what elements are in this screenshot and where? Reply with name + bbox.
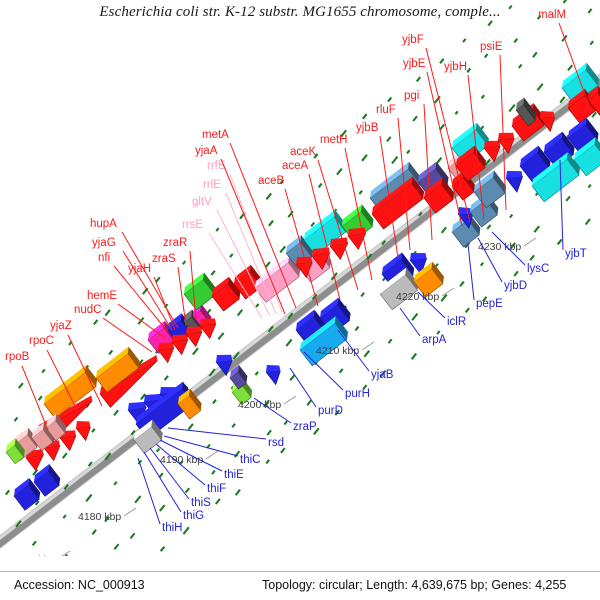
marker-tick xyxy=(466,308,469,312)
marker-tick xyxy=(183,261,186,264)
marker-tick xyxy=(437,158,441,163)
gene-label[interactable]: rrsE xyxy=(182,219,203,231)
marker-tick xyxy=(183,527,188,534)
marker-tick xyxy=(407,150,410,153)
gene-label[interactable]: metH xyxy=(320,134,347,146)
gene-label[interactable]: yjaZ xyxy=(50,320,72,332)
gene-label[interactable]: malM xyxy=(538,9,566,21)
gene-label[interactable]: yjbB xyxy=(356,122,379,134)
marker-tick xyxy=(519,64,522,67)
marker-tick xyxy=(467,68,470,72)
gene-label-leader xyxy=(468,244,474,300)
marker-tick xyxy=(442,227,446,233)
marker-tick xyxy=(355,326,358,330)
marker-tick xyxy=(590,41,593,44)
marker-tick xyxy=(311,223,314,227)
gene-label[interactable]: yjbE xyxy=(403,58,426,70)
marker-tick xyxy=(269,221,273,226)
marker-tick xyxy=(510,215,512,218)
marker-tick xyxy=(213,400,216,404)
gene-label[interactable]: aceB xyxy=(258,175,285,187)
gene-label[interactable]: arpA xyxy=(422,334,447,346)
marker-tick xyxy=(114,544,118,549)
gene-label[interactable]: aceA xyxy=(282,160,309,172)
gene-label-leader xyxy=(164,436,238,456)
ruler-tick-label: 4170 kbp xyxy=(12,554,55,556)
marker-tick xyxy=(216,499,220,504)
marker-tick xyxy=(33,541,36,545)
gene-label[interactable]: metA xyxy=(202,129,229,141)
gene-label[interactable]: rrfE xyxy=(207,160,226,172)
gene-label[interactable]: yjaA xyxy=(195,145,218,157)
genome-map-svg[interactable]: 4170 kbp4180 kbp4190 kbp4200 kbp4210 kbp… xyxy=(0,0,600,556)
ruler-tick-leader xyxy=(442,288,454,296)
marker-tick xyxy=(488,21,492,26)
gene-label[interactable]: thiS xyxy=(191,497,211,509)
marker-tick xyxy=(238,310,243,316)
gene-label[interactable]: aceK xyxy=(290,146,317,158)
marker-tick xyxy=(286,339,291,346)
marker-tick xyxy=(156,277,160,282)
gene-label[interactable]: yjbD xyxy=(504,280,527,292)
gene-label[interactable]: yjbF xyxy=(402,34,424,46)
marker-tick xyxy=(412,354,416,360)
marker-tick xyxy=(160,505,165,511)
ruler-tick-leader xyxy=(206,451,218,459)
marker-tick xyxy=(211,271,214,275)
marker-tick xyxy=(455,111,457,114)
genome-viewer-window: Escherichia coli str. K-12 substr. MG165… xyxy=(0,0,600,600)
forward-strand-features[interactable] xyxy=(3,63,600,471)
marker-tick xyxy=(284,421,287,424)
gene-label[interactable]: rpoC xyxy=(29,335,54,347)
marker-tick xyxy=(15,417,18,421)
marker-tick xyxy=(86,495,91,502)
ruler-tick-leader xyxy=(524,238,536,246)
marker-tick xyxy=(114,482,116,485)
gene-label[interactable]: nudC xyxy=(74,304,102,316)
status-bar: Accession: NC_000913 Topology: circular;… xyxy=(0,571,600,600)
gene-label-leader xyxy=(22,366,48,430)
ruler-tick-label: 4220 kbp xyxy=(396,291,439,303)
ruler-tick-leader xyxy=(124,508,136,516)
gene-label[interactable]: purD xyxy=(318,405,343,417)
ruler-tick-leader xyxy=(362,342,374,350)
marker-tick xyxy=(389,339,392,343)
marker-tick xyxy=(6,490,9,494)
gene-label[interactable]: nfi xyxy=(98,252,110,264)
marker-tick xyxy=(63,515,66,518)
marker-tick xyxy=(193,348,198,354)
gene-label[interactable]: rsd xyxy=(268,437,284,449)
marker-tick xyxy=(105,310,109,316)
marker-tick xyxy=(232,424,235,428)
gene-label-leader xyxy=(304,352,343,390)
gene-label[interactable]: rrlE xyxy=(203,179,221,191)
gene-label[interactable]: iclR xyxy=(447,316,466,328)
marker-tick xyxy=(218,333,223,339)
marker-tick xyxy=(266,193,271,199)
genome-map-canvas[interactable]: 4170 kbp4180 kbp4190 kbp4200 kbp4210 kbp… xyxy=(0,0,600,556)
marker-tick xyxy=(94,320,98,324)
marker-tick xyxy=(568,65,572,70)
gene-label[interactable]: thiH xyxy=(162,522,182,534)
marker-tick xyxy=(509,6,512,9)
marker-tick xyxy=(482,95,485,98)
marker-tick xyxy=(216,228,218,231)
accession-label: Accession: NC_000913 xyxy=(14,578,145,592)
marker-tick xyxy=(161,547,165,552)
marker-tick xyxy=(509,105,514,112)
marker-tick xyxy=(563,0,568,3)
marker-tick xyxy=(361,293,364,297)
marker-tick xyxy=(388,97,391,101)
ruler-tick-leader xyxy=(284,396,296,404)
marker-tick xyxy=(412,314,417,321)
marker-tick xyxy=(42,369,45,372)
gene-label[interactable]: pgi xyxy=(404,90,419,102)
marker-tick xyxy=(19,383,23,388)
gene-feature[interactable] xyxy=(263,359,287,384)
marker-tick xyxy=(340,369,343,373)
marker-tick xyxy=(359,191,362,194)
marker-tick xyxy=(530,255,534,260)
marker-tick xyxy=(109,350,112,354)
gene-label-leader xyxy=(290,368,316,407)
gene-label-leader xyxy=(400,308,420,336)
gene-label[interactable]: zraR xyxy=(163,237,187,249)
marker-tick xyxy=(92,530,96,535)
gene-label[interactable]: yjaG xyxy=(92,237,116,249)
gene-label-leader xyxy=(138,458,160,524)
marker-tick xyxy=(537,84,542,91)
ruler-tick-leader xyxy=(58,551,70,556)
ruler-tick-label: 4230 kbp xyxy=(478,241,521,253)
marker-tick xyxy=(558,239,562,244)
marker-tick xyxy=(230,254,233,257)
gene-label[interactable]: zraS xyxy=(152,253,176,265)
marker-tick xyxy=(534,226,539,232)
marker-tick xyxy=(236,490,240,495)
marker-tick xyxy=(514,39,517,43)
marker-tick xyxy=(364,351,369,357)
marker-tick xyxy=(267,430,271,435)
marker-tick xyxy=(255,372,258,375)
marker-tick xyxy=(588,185,590,188)
marker-tick xyxy=(212,471,215,475)
marker-tick xyxy=(387,137,391,141)
gene-label[interactable]: thiE xyxy=(224,469,244,481)
marker-tick xyxy=(114,410,118,415)
topology-label: Topology: circular; Length: 4,639,675 bp… xyxy=(262,578,566,592)
gene-label[interactable]: hemE xyxy=(87,290,117,302)
marker-tick xyxy=(266,460,269,464)
marker-tick xyxy=(392,157,398,164)
ruler-tick-label: 4180 kbp xyxy=(78,511,121,523)
marker-tick xyxy=(92,429,95,432)
gene-label[interactable]: rluF xyxy=(376,104,396,116)
marker-tick xyxy=(413,116,417,121)
gene-label[interactable]: zraP xyxy=(293,421,317,433)
marker-tick xyxy=(266,262,270,267)
marker-tick xyxy=(566,196,570,200)
marker-tick xyxy=(588,9,591,13)
marker-tick xyxy=(256,304,258,307)
ruler-tick-label: 4190 kbp xyxy=(160,454,203,466)
gene-label[interactable]: yjaB xyxy=(371,369,394,381)
marker-tick xyxy=(165,376,168,380)
marker-tick xyxy=(487,225,490,229)
marker-tick xyxy=(280,246,285,252)
gene-label[interactable]: thiF xyxy=(207,483,226,495)
gene-feature[interactable] xyxy=(73,415,97,440)
marker-tick xyxy=(485,54,488,57)
marker-tick xyxy=(460,282,464,287)
gene-label[interactable]: pepE xyxy=(476,298,503,310)
marker-tick xyxy=(290,375,294,380)
ruler-tick-label: 4210 kbp xyxy=(316,345,359,357)
gene-label[interactable]: yjbH xyxy=(444,61,467,73)
gene-label[interactable]: rpoB xyxy=(5,351,30,363)
gene-label[interactable]: thiC xyxy=(240,454,260,466)
ruler-tick-label: 4200 kbp xyxy=(238,399,281,411)
marker-tick xyxy=(363,114,367,119)
marker-tick xyxy=(39,396,42,400)
marker-tick xyxy=(417,77,420,81)
marker-tick xyxy=(337,169,342,175)
marker-tick xyxy=(463,39,466,42)
gene-label[interactable]: psiE xyxy=(480,41,503,53)
gene-label[interactable]: hupA xyxy=(90,218,117,230)
marker-tick xyxy=(63,453,67,458)
gene-label[interactable]: yjbT xyxy=(565,248,587,260)
gene-label-leader xyxy=(168,428,266,439)
marker-tick xyxy=(186,488,190,492)
marker-tick xyxy=(362,155,367,161)
marker-tick xyxy=(319,184,322,188)
gene-label[interactable]: lysC xyxy=(527,263,549,275)
marker-tick xyxy=(481,263,483,266)
marker-tick xyxy=(135,496,140,503)
marker-tick xyxy=(157,449,160,452)
gene-label[interactable]: gltV xyxy=(192,196,212,208)
gene-label[interactable]: thiG xyxy=(183,510,204,522)
marker-tick xyxy=(188,424,192,430)
marker-tick xyxy=(514,271,518,276)
marker-tick xyxy=(307,400,311,405)
marker-tick xyxy=(533,52,537,57)
marker-tick xyxy=(130,533,134,538)
gene-label[interactable]: purH xyxy=(345,388,370,400)
gene-labels-forward[interactable]: rpoBrpoCyjaZnudChemEyjaHnfiyjaGhupAzraSz… xyxy=(5,9,588,430)
marker-tick xyxy=(586,219,590,224)
